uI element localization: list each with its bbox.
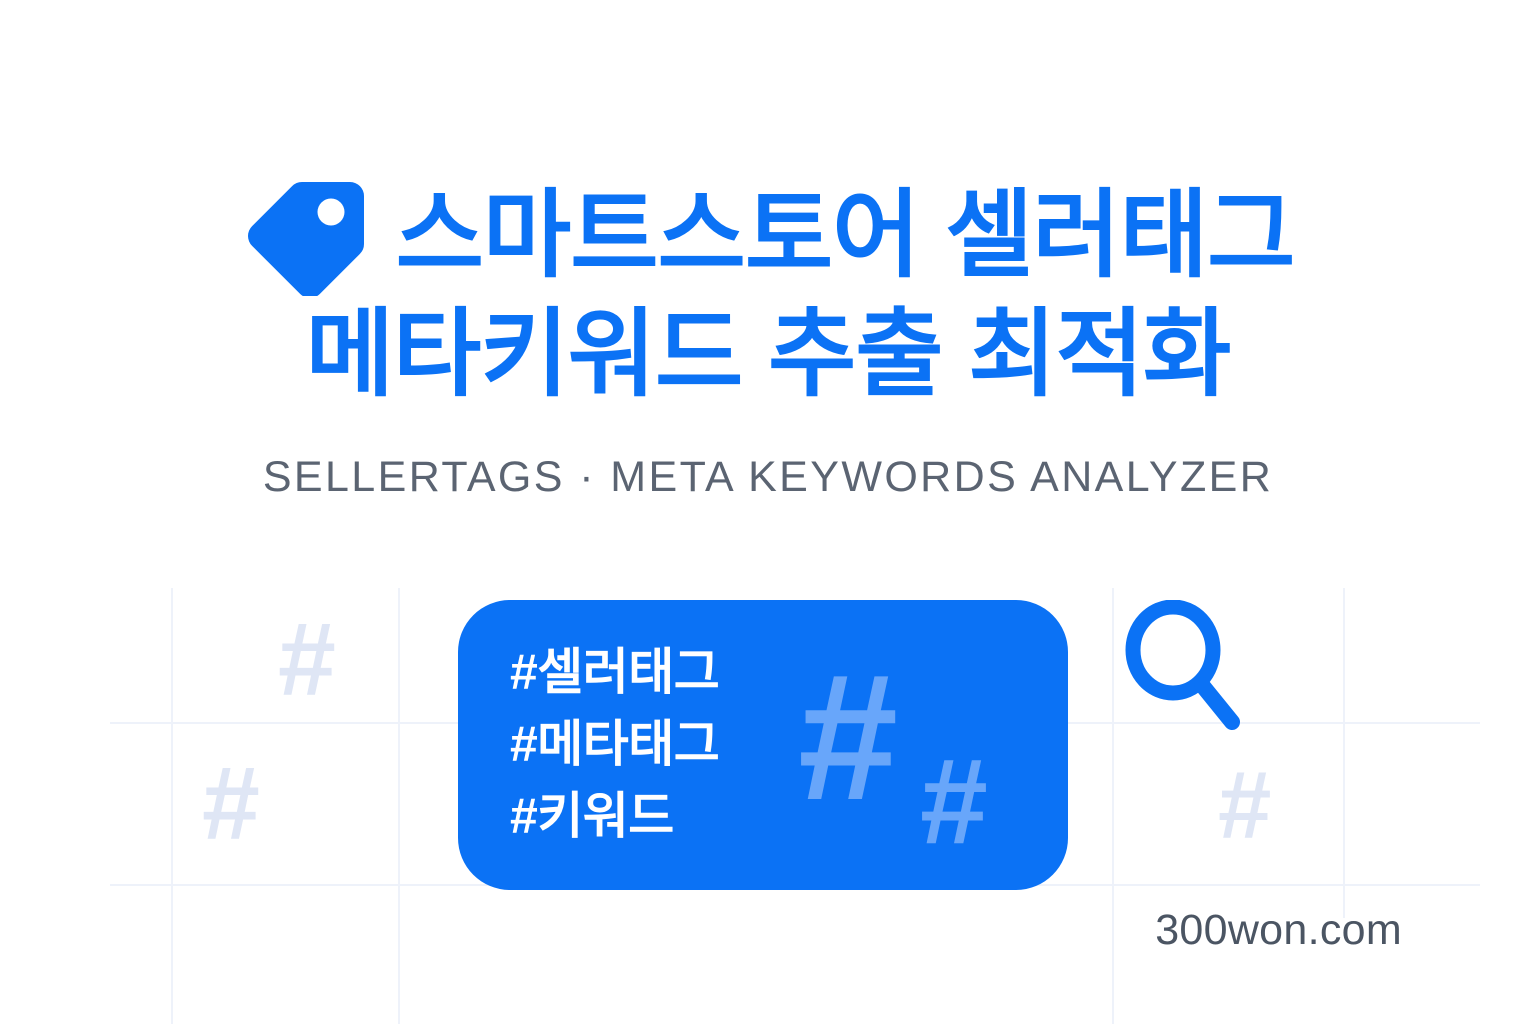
site-watermark: 300won.com	[1155, 906, 1402, 955]
title-row-primary: 스마트스토어 셀러태그	[0, 176, 1536, 296]
page-title-line-1: 스마트스토어 셀러태그	[396, 179, 1295, 292]
banner-canvas: # # # 스마트스토어 셀러태그 메타키워드 추출 최적화 SELLERTAG…	[0, 0, 1536, 1024]
page-title-line-2: 메타키워드 추출 최적화	[0, 298, 1536, 411]
decorative-hash-icon: #	[1218, 758, 1271, 854]
grid-line-vertical	[398, 588, 400, 1024]
card-decorative-hash-small-icon: #	[920, 740, 988, 862]
grid-line-vertical	[171, 588, 173, 1024]
keyword-tag-item[interactable]: #키워드	[510, 780, 719, 852]
keyword-tag-item[interactable]: #메타태그	[510, 708, 719, 780]
keyword-tag-card[interactable]: # # #셀러태그 #메타태그 #키워드	[458, 600, 1068, 890]
grid-line-vertical	[1343, 588, 1345, 918]
keyword-tag-item[interactable]: #셀러태그	[510, 636, 719, 708]
tag-icon	[242, 176, 370, 296]
headline-block: 스마트스토어 셀러태그 메타키워드 추출 최적화 SELLERTAGS · ME…	[0, 176, 1536, 502]
decorative-hash-icon: #	[202, 752, 260, 856]
keyword-tag-list: #셀러태그 #메타태그 #키워드	[510, 636, 719, 852]
grid-line-vertical	[1112, 588, 1114, 1024]
card-decorative-hash-large-icon: #	[798, 648, 898, 828]
decorative-hash-icon: #	[278, 608, 336, 712]
search-icon[interactable]	[1117, 600, 1247, 735]
page-subtitle: SELLERTAGS · META KEYWORDS ANALYZER	[0, 453, 1536, 502]
